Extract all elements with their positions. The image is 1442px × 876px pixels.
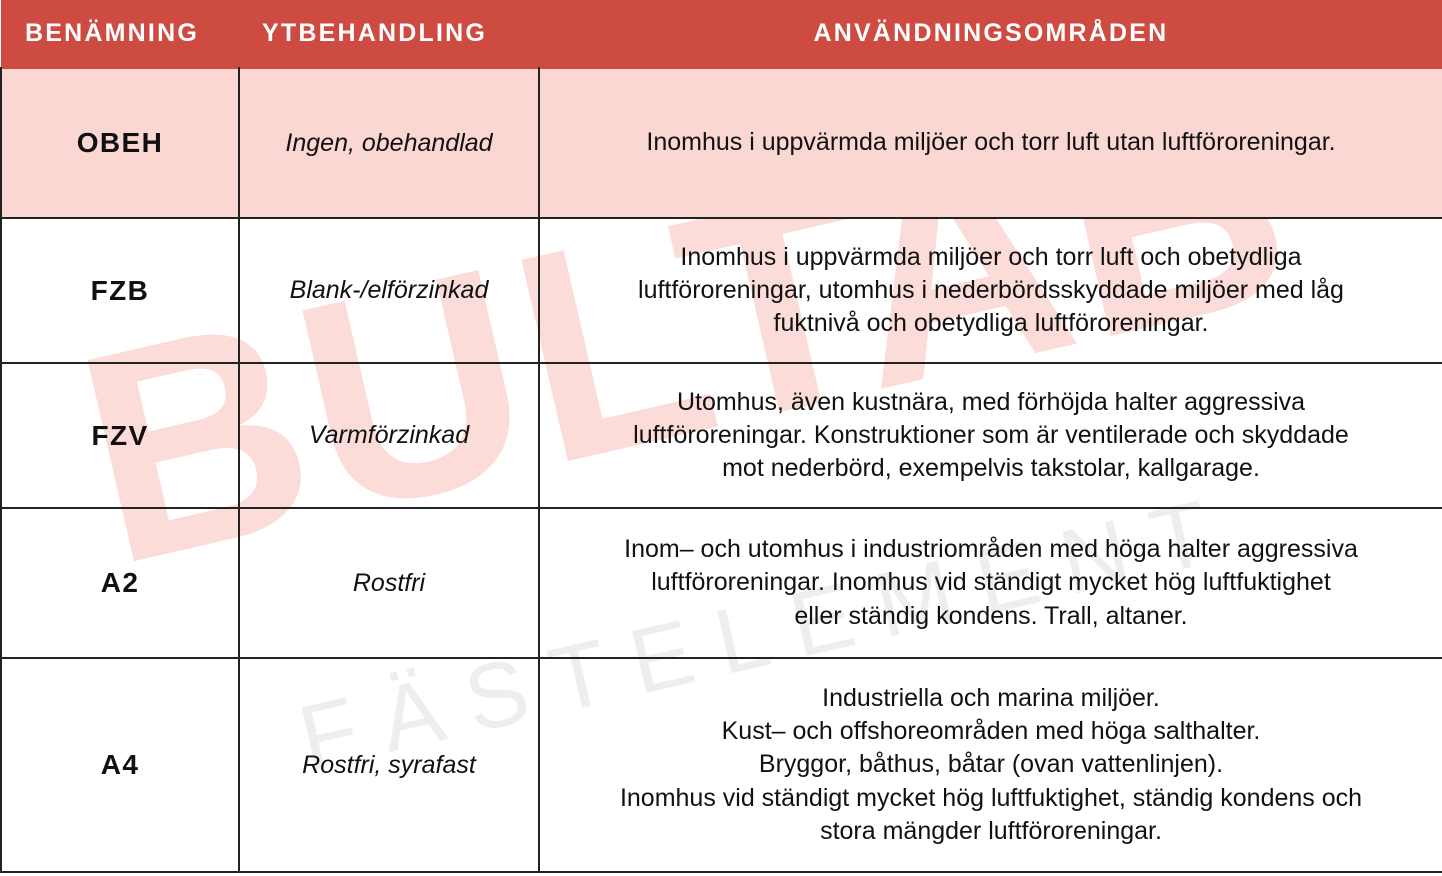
table-row: A2 Rostfri Inom– och utomhus i industrio…	[1, 508, 1442, 658]
usage-line: Inomhus i uppvärmda miljöer och torr luf…	[558, 241, 1424, 274]
table-body: OBEH Ingen, obehandlad Inomhus i uppvärm…	[1, 68, 1442, 872]
table-header: BENÄMNING YTBEHANDLING ANVÄNDNINGSOMRÅDE…	[1, 0, 1442, 68]
cell-surface: Rostfri	[239, 508, 539, 658]
usage-line: eller ständig kondens. Trall, altaner.	[558, 600, 1424, 633]
cell-usage: Industriella och marina miljöer. Kust– o…	[539, 658, 1442, 872]
usage-line: Inomhus i uppvärmda miljöer och torr luf…	[558, 126, 1424, 159]
usage-line: luftföroreningar. Konstruktioner som är …	[558, 419, 1424, 452]
usage-line: fuktnivå och obetydliga luftföroreningar…	[558, 307, 1424, 340]
cell-code: FZV	[1, 363, 239, 508]
cell-usage: Inomhus i uppvärmda miljöer och torr luf…	[539, 218, 1442, 363]
usage-line: Industriella och marina miljöer.	[558, 682, 1424, 715]
cell-code: OBEH	[1, 68, 239, 218]
column-header-anvandningsomraden: ANVÄNDNINGSOMRÅDEN	[539, 0, 1442, 68]
table-row: FZV Varmförzinkad Utomhus, även kustnära…	[1, 363, 1442, 508]
cell-usage: Inom– och utomhus i industriområden med …	[539, 508, 1442, 658]
usage-line: mot nederbörd, exempelvis takstolar, kal…	[558, 452, 1424, 485]
column-header-ytbehandling: YTBEHANDLING	[239, 0, 539, 68]
usage-line: Inom– och utomhus i industriområden med …	[558, 533, 1424, 566]
table-row: OBEH Ingen, obehandlad Inomhus i uppvärm…	[1, 68, 1442, 218]
cell-surface: Rostfri, syrafast	[239, 658, 539, 872]
cell-code: FZB	[1, 218, 239, 363]
cell-surface: Ingen, obehandlad	[239, 68, 539, 218]
column-header-benamning: BENÄMNING	[1, 0, 239, 68]
usage-line: stora mängder luftföroreningar.	[558, 815, 1424, 848]
table-row: A4 Rostfri, syrafast Industriella och ma…	[1, 658, 1442, 872]
usage-line: Kust– och offshoreområden med höga salth…	[558, 715, 1424, 748]
usage-line: Bryggor, båthus, båtar (ovan vattenlinje…	[558, 748, 1424, 781]
cell-surface: Varmförzinkad	[239, 363, 539, 508]
surface-treatment-table-wrapper: BENÄMNING YTBEHANDLING ANVÄNDNINGSOMRÅDE…	[0, 0, 1442, 873]
cell-code: A2	[1, 508, 239, 658]
surface-treatment-table: BENÄMNING YTBEHANDLING ANVÄNDNINGSOMRÅDE…	[0, 0, 1442, 873]
usage-line: Utomhus, även kustnära, med förhöjda hal…	[558, 386, 1424, 419]
usage-line: luftföroreningar, utomhus i nederbördssk…	[558, 274, 1424, 307]
usage-line: Inomhus vid ständigt mycket hög luftfukt…	[558, 782, 1424, 815]
cell-usage: Utomhus, även kustnära, med förhöjda hal…	[539, 363, 1442, 508]
page-root: BULTAB FÄSTELEMENT BENÄMNING YTBEHANDLIN…	[0, 0, 1442, 876]
cell-surface: Blank-/elförzinkad	[239, 218, 539, 363]
cell-usage: Inomhus i uppvärmda miljöer och torr luf…	[539, 68, 1442, 218]
table-header-row: BENÄMNING YTBEHANDLING ANVÄNDNINGSOMRÅDE…	[1, 0, 1442, 68]
table-row: FZB Blank-/elförzinkad Inomhus i uppvärm…	[1, 218, 1442, 363]
usage-line: luftföroreningar. Inomhus vid ständigt m…	[558, 566, 1424, 599]
cell-code: A4	[1, 658, 239, 872]
